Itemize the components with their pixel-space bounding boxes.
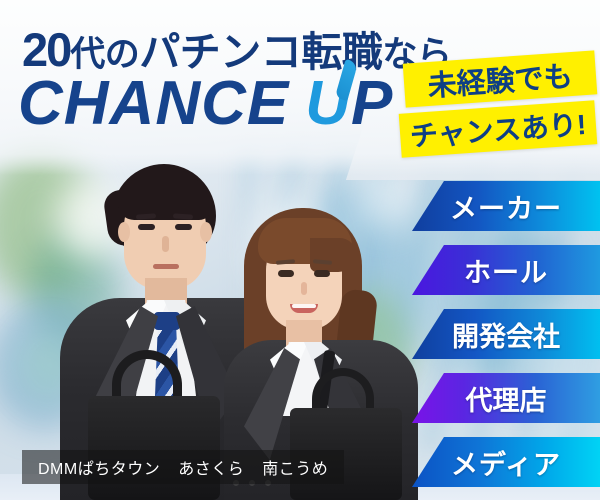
male-eye-left [138, 224, 155, 230]
category-button-media[interactable]: メディア [412, 437, 600, 487]
caption-name-2: 南こうめ [262, 455, 328, 479]
people-photo [0, 140, 420, 500]
male-necktie-knot [154, 312, 180, 330]
category-label-developer: 開発会社 [452, 315, 560, 354]
logo-letter-u: U [305, 68, 351, 139]
female-nose [301, 282, 307, 295]
category-label-media: メディア [451, 443, 561, 482]
male-ear-right [200, 222, 212, 242]
category-button-maker[interactable]: メーカー [412, 181, 600, 231]
female-eye-left [278, 270, 294, 277]
male-eye-right [175, 224, 192, 230]
logo-letter-p: P [351, 69, 393, 138]
logo-chance-up: CHANCEUP [18, 68, 393, 139]
category-label-maker: メーカー [450, 187, 562, 226]
female-eye-right [314, 270, 330, 277]
category-button-agency[interactable]: 代理店 [412, 373, 600, 423]
male-fringe [118, 178, 212, 220]
caption-bar: DMMぱちタウン あさくら 南こうめ [22, 450, 344, 484]
category-label-agency: 代理店 [466, 379, 547, 418]
female-fringe [258, 218, 352, 264]
logo-word-chance: CHANCE [18, 69, 289, 138]
male-ear-left [118, 222, 130, 242]
caption-site-name: DMMぱちタウン [38, 455, 160, 479]
category-button-hall[interactable]: ホール [412, 245, 600, 295]
recruitment-banner: 20代のパチンコ転職なら CHANCEUP 未経験でも チャンスあり! メーカー… [0, 0, 600, 500]
briefcase-male [88, 396, 220, 500]
category-label-hall: ホール [464, 251, 548, 290]
caption-name-1: あさくら [178, 455, 244, 479]
male-mouth [153, 264, 179, 269]
category-button-developer[interactable]: 開発会社 [412, 309, 600, 359]
male-nose [162, 236, 169, 252]
